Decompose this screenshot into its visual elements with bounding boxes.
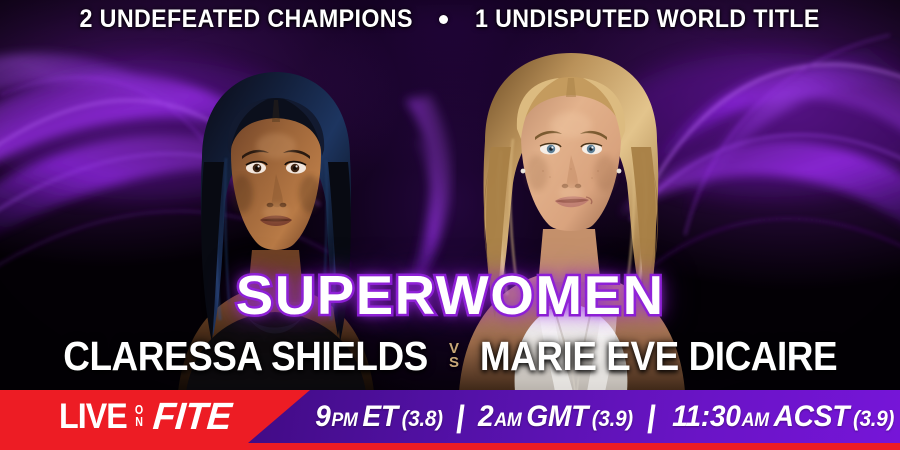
headline-right-text: 1 UNDISPUTED WORLD TITLE (475, 5, 820, 34)
matchup-row: CLARESSA SHIELDS V S MARIE EVE DICAIRE (0, 332, 900, 380)
headline-left-text: 2 UNDEFEATED CHAMPIONS (79, 5, 412, 34)
headline-strip: 2 UNDEFEATED CHAMPIONS 1 UNDISPUTED WORL… (0, 0, 900, 38)
logo-live-text: LIVE (59, 399, 127, 434)
fighter-portraits (0, 0, 900, 450)
time-note-2: (3.9) (853, 408, 894, 430)
live-on-fite-logo[interactable]: LIVE O N FITE (0, 390, 280, 443)
broadcast-times: 9 PM ET (3.8) | 2 AM GMT (3.9) | 11:30 A… (300, 390, 900, 443)
time-meridiem-2: AM (742, 411, 769, 430)
fight-promo-banner: 2 UNDEFEATED CHAMPIONS 1 UNDISPUTED WORL… (0, 0, 900, 450)
time-meridiem-1: AM (495, 411, 522, 430)
versus-line-2: S (449, 356, 459, 370)
time-value-0: 9 (315, 402, 330, 432)
versus-marker: V S (449, 342, 459, 370)
time-separator-2: | (645, 401, 658, 432)
time-zone-1: GMT (527, 402, 589, 432)
time-zone-2: ACST (773, 402, 849, 432)
time-value-1: 2 (478, 402, 493, 432)
time-meridiem-0: PM (331, 411, 357, 430)
time-value-2: 11:30 (672, 402, 741, 432)
fighter-name-right: MARIE EVE DICAIRE (480, 336, 837, 377)
bullet-dot-icon (439, 15, 448, 24)
fighter-name-left: CLARESSA SHIELDS (63, 336, 428, 377)
broadcast-time-0: 9 PM ET (3.8) (315, 402, 443, 432)
broadcast-time-2: 11:30 AM ACST (3.9) (672, 402, 894, 432)
logo-on-line-2: N (135, 416, 143, 428)
time-note-0: (3.8) (401, 408, 442, 430)
event-title-wrap: SUPERWOMEN (0, 268, 900, 323)
bottom-bar-red-strip (0, 443, 900, 450)
logo-on-text: O N (135, 404, 143, 429)
time-separator-1: | (454, 401, 467, 432)
time-note-1: (3.9) (592, 408, 633, 430)
broadcast-time-1: 2 AM GMT (3.9) (478, 402, 633, 432)
logo-fite-brand: FITE (152, 398, 233, 436)
event-title: SUPERWOMEN (236, 268, 665, 323)
bottom-info-bar: LIVE O N FITE 9 PM ET (3.8) | 2 AM GMT (… (0, 390, 900, 450)
time-zone-0: ET (362, 402, 397, 432)
